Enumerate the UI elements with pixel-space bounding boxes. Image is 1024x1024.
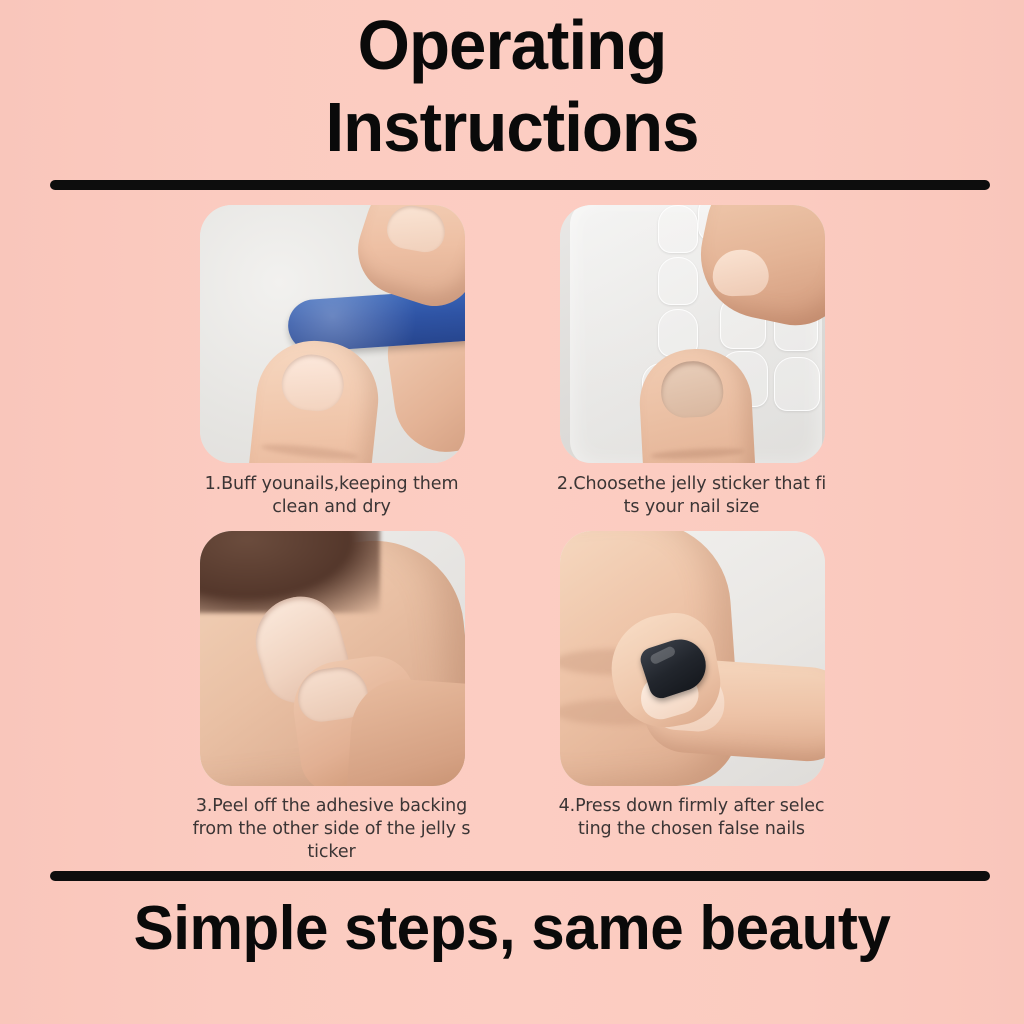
jelly-tab xyxy=(658,205,698,253)
page-title-line-2: Instructions xyxy=(20,86,1003,168)
press-false-nail-scene xyxy=(560,531,825,786)
thumb-nail-shape xyxy=(711,249,769,297)
page-title-line-1: Operating xyxy=(20,4,1003,86)
steps-grid: 1.Buff younails,keeping them clean and d… xyxy=(0,205,1024,864)
step-2-caption: 2.Choosethe jelly sticker that fi ts you… xyxy=(552,473,832,519)
step-4-caption: 4.Press down firmly after selec ting the… xyxy=(552,795,832,841)
finger-crease xyxy=(650,447,744,461)
step-3: 3.Peel off the adhesive backing from the… xyxy=(200,531,465,864)
step-1: 1.Buff younails,keeping them clean and d… xyxy=(200,205,465,519)
steps-row-bottom: 3.Peel off the adhesive backing from the… xyxy=(0,531,1024,864)
step-3-caption: 3.Peel off the adhesive backing from the… xyxy=(192,795,472,864)
thumb-nail-shape xyxy=(383,205,448,255)
footer-tagline: Simple steps, same beauty xyxy=(15,893,1008,965)
step-1-photo xyxy=(200,205,465,463)
index-nail-shape xyxy=(279,352,347,414)
steps-row-top: 1.Buff younails,keeping them clean and d… xyxy=(0,205,1024,519)
step-2: 2.Choosethe jelly sticker that fi ts you… xyxy=(560,205,825,519)
step-4-photo xyxy=(560,531,825,786)
step-2-photo xyxy=(560,205,825,463)
step-3-photo xyxy=(200,531,465,786)
jelly-tab xyxy=(774,357,820,411)
page-title: Operating Instructions xyxy=(0,4,1024,168)
index-finger-shape xyxy=(242,335,384,463)
finger-crease xyxy=(260,442,359,462)
top-divider-rule xyxy=(50,180,990,190)
step-4: 4.Press down firmly after selec ting the… xyxy=(560,531,825,864)
jelly-tab xyxy=(658,257,698,305)
index-nail-shape xyxy=(659,360,724,419)
peel-backing-scene xyxy=(200,531,465,786)
instruction-poster: Operating Instructions xyxy=(0,0,1024,1024)
jelly-sticker-scene xyxy=(560,205,825,463)
bottom-divider-rule xyxy=(50,871,990,881)
nail-file-scene xyxy=(200,205,465,463)
step-1-caption: 1.Buff younails,keeping them clean and d… xyxy=(192,473,472,519)
